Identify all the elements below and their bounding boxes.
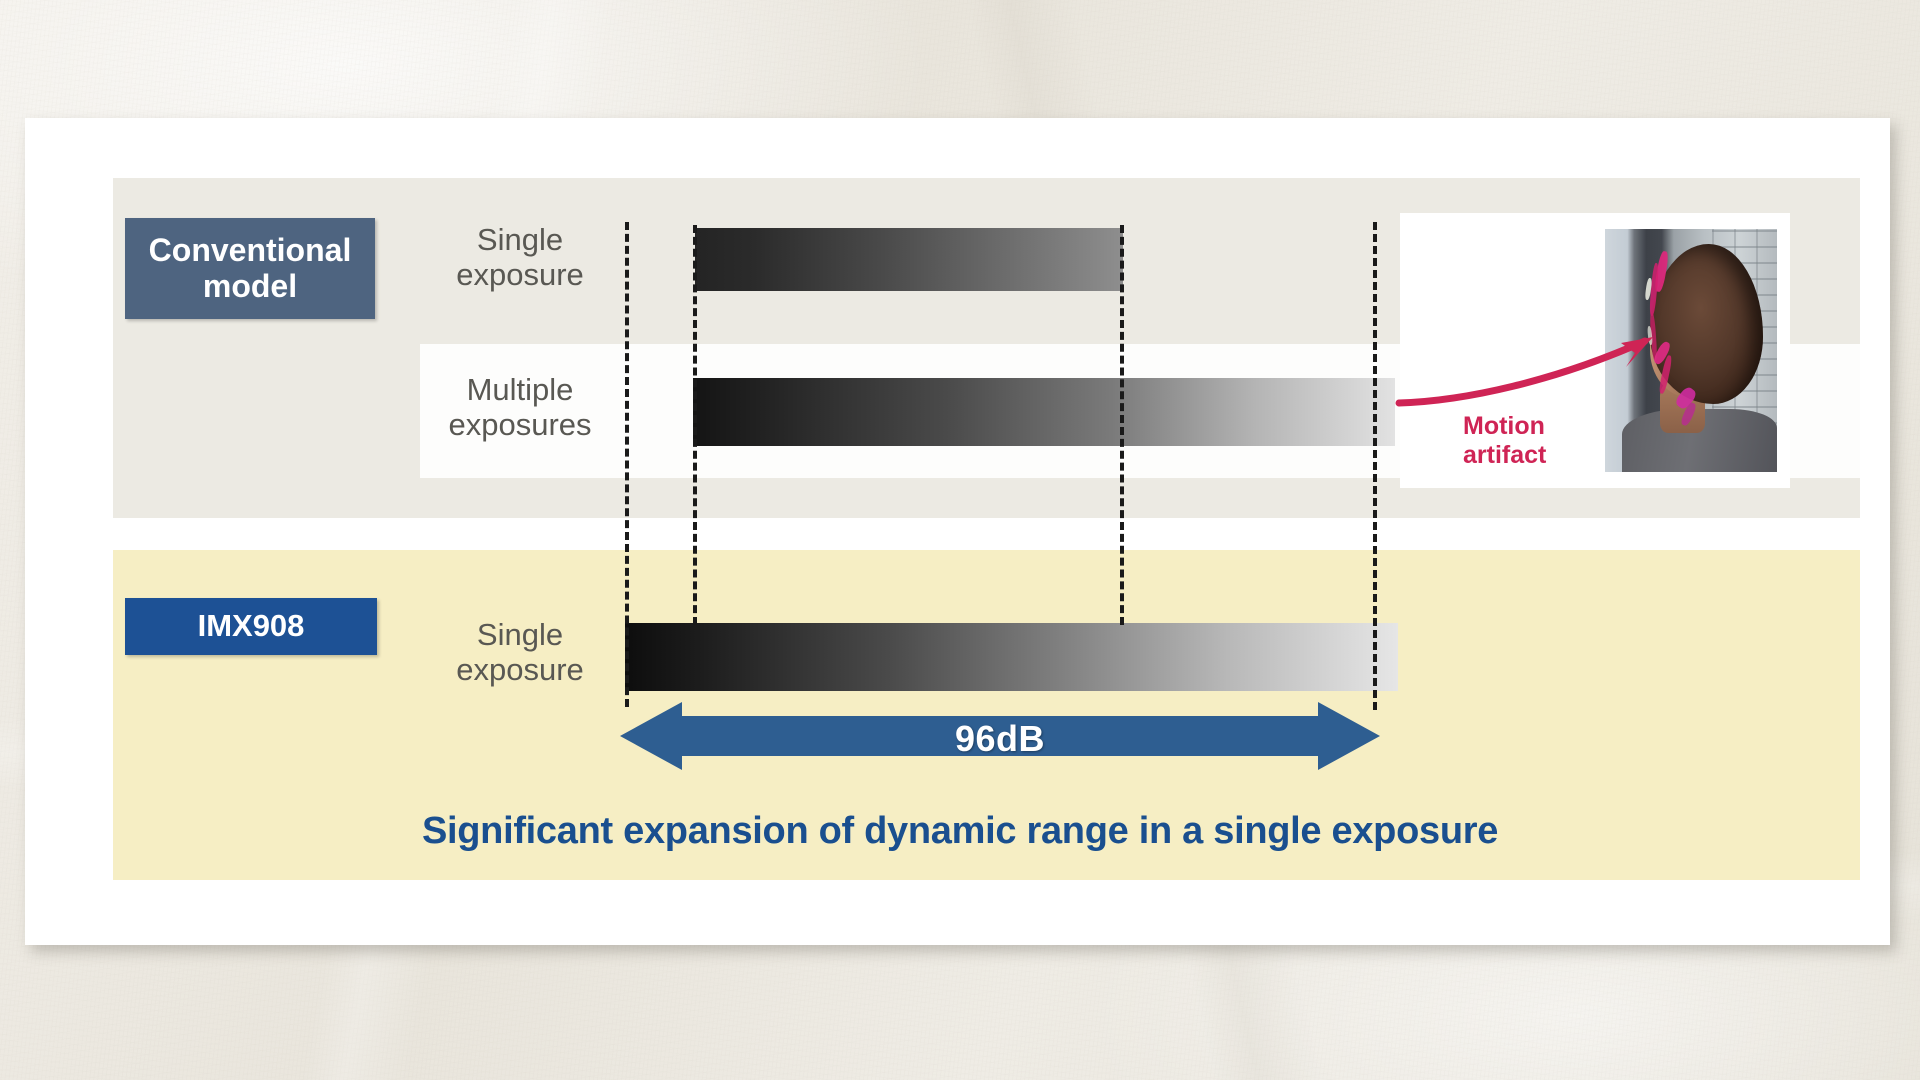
imx908-badge-label: IMX908 — [198, 609, 305, 644]
dashed-guide-range-end — [1373, 222, 1377, 710]
motion-artifact-label: Motion artifact — [1463, 412, 1643, 470]
dashed-guide-imx-start — [625, 222, 629, 707]
conventional-model-badge-line1: Conventional — [149, 232, 352, 268]
bar-conventional-single-exposure — [695, 228, 1123, 291]
label-conventional-multiple-exposures: Multiple exposures — [400, 373, 640, 442]
dashed-guide-multiple-start — [693, 225, 697, 625]
label-imx908-single-exposure-line2: exposure — [456, 652, 584, 687]
label-conventional-single-exposure-line2: exposure — [456, 257, 584, 292]
conventional-model-badge[interactable]: Conventional model — [125, 218, 375, 319]
label-imx908-single-exposure-line1: Single — [477, 617, 563, 652]
imx908-caption: Significant expansion of dynamic range i… — [120, 810, 1800, 853]
motion-artifact-label-line2: artifact — [1463, 441, 1546, 469]
imx908-badge[interactable]: IMX908 — [125, 598, 377, 655]
label-conventional-single-exposure-line1: Single — [477, 222, 563, 257]
label-imx908-single-exposure: Single exposure — [400, 618, 640, 687]
dynamic-range-value: 96dB — [620, 718, 1380, 760]
bar-imx908-single-exposure — [625, 623, 1398, 691]
label-conventional-multiple-exposures-line2: exposures — [448, 407, 591, 442]
dashed-guide-conventional-single-end — [1120, 225, 1124, 625]
conventional-model-badge-text: Conventional model — [149, 233, 352, 305]
label-conventional-multiple-exposures-line1: Multiple — [467, 372, 574, 407]
label-conventional-single-exposure: Single exposure — [400, 223, 640, 292]
conventional-model-badge-line2: model — [203, 268, 297, 304]
motion-artifact-label-line1: Motion — [1463, 412, 1545, 440]
bar-conventional-multiple-exposures — [693, 378, 1395, 446]
